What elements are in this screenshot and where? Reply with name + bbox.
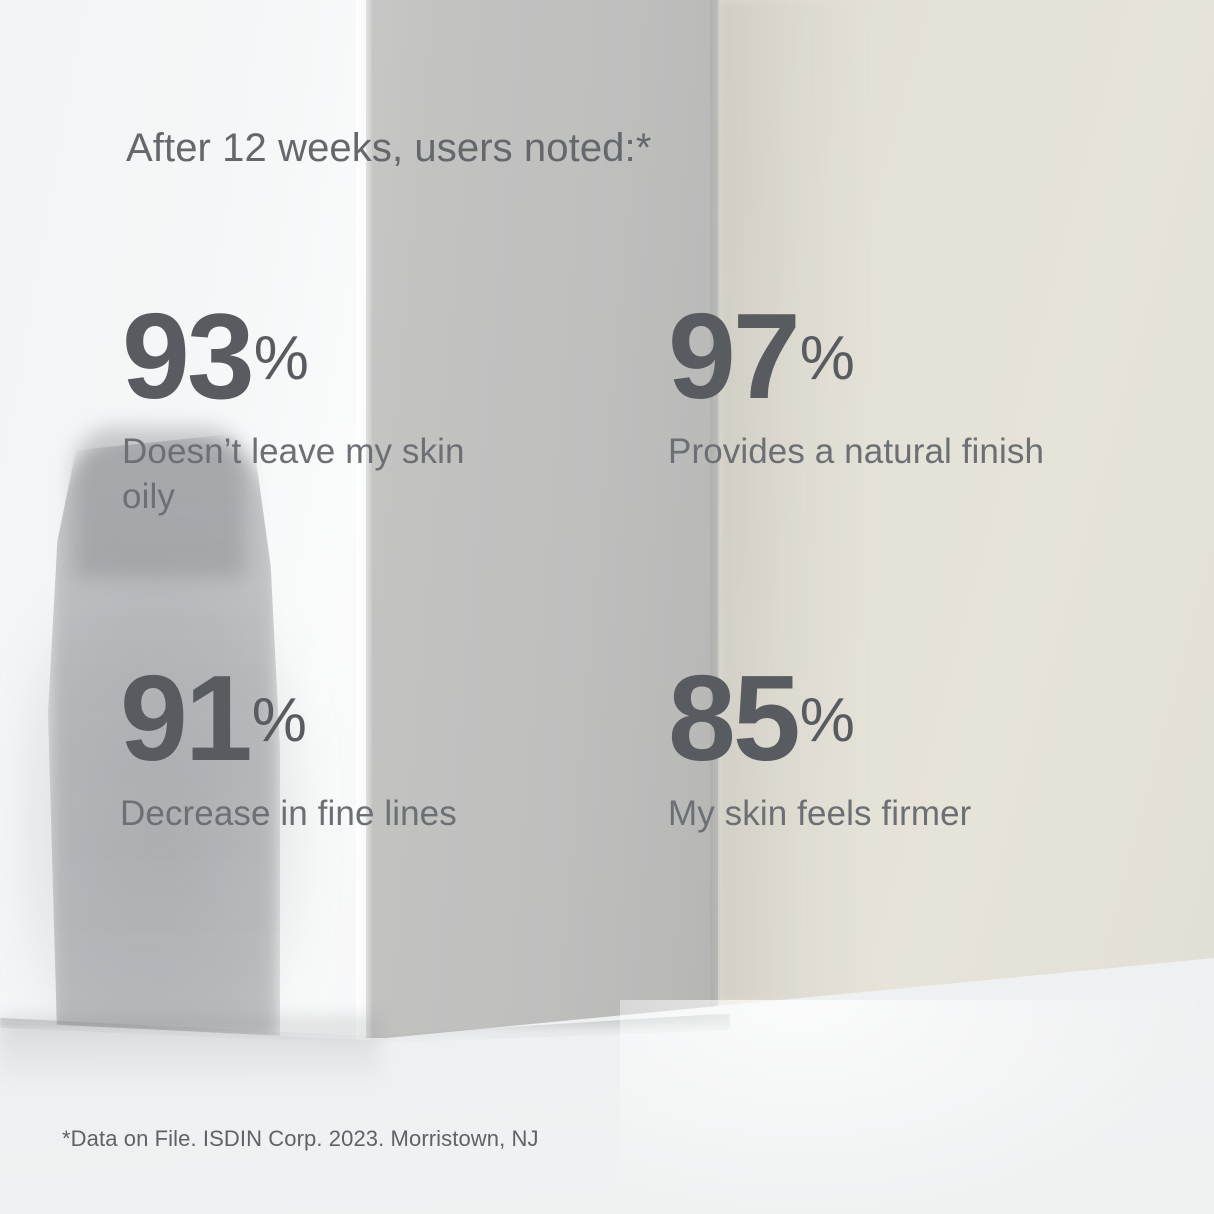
stat-value: 91 %: [120, 662, 540, 774]
stat-number: 97: [668, 300, 798, 412]
percent-sign: %: [800, 328, 854, 390]
stat-block-firmer-skin: 85 % My skin feels firmer: [668, 662, 1088, 837]
stat-label: My skin feels firmer: [668, 792, 1088, 837]
percent-sign: %: [252, 690, 306, 752]
stat-value: 97 %: [668, 300, 1088, 412]
stat-value: 93 %: [122, 300, 542, 412]
stat-label: Doesn’t leave my skin oily: [122, 430, 522, 520]
stat-number: 91: [120, 662, 250, 774]
stat-value: 85 %: [668, 662, 1088, 774]
percent-sign: %: [254, 328, 308, 390]
stat-block-fine-lines: 91 % Decrease in fine lines: [120, 662, 540, 837]
stat-block-natural-finish: 97 % Provides a natural finish: [668, 300, 1088, 475]
stat-number: 93: [122, 300, 252, 412]
percent-sign: %: [800, 690, 854, 752]
footnote-disclaimer: *Data on File. ISDIN Corp. 2023. Morrist…: [62, 1126, 539, 1152]
stat-label: Decrease in fine lines: [120, 792, 520, 837]
stat-label: Provides a natural finish: [668, 430, 1048, 475]
page-title: After 12 weeks, users noted:*: [126, 126, 651, 171]
product-claims-graphic: After 12 weeks, users noted:* 93 % Doesn…: [0, 0, 1214, 1214]
claims-content: After 12 weeks, users noted:* 93 % Doesn…: [0, 0, 1214, 1214]
stat-block-no-oily: 93 % Doesn’t leave my skin oily: [122, 300, 542, 520]
stat-number: 85: [668, 662, 798, 774]
